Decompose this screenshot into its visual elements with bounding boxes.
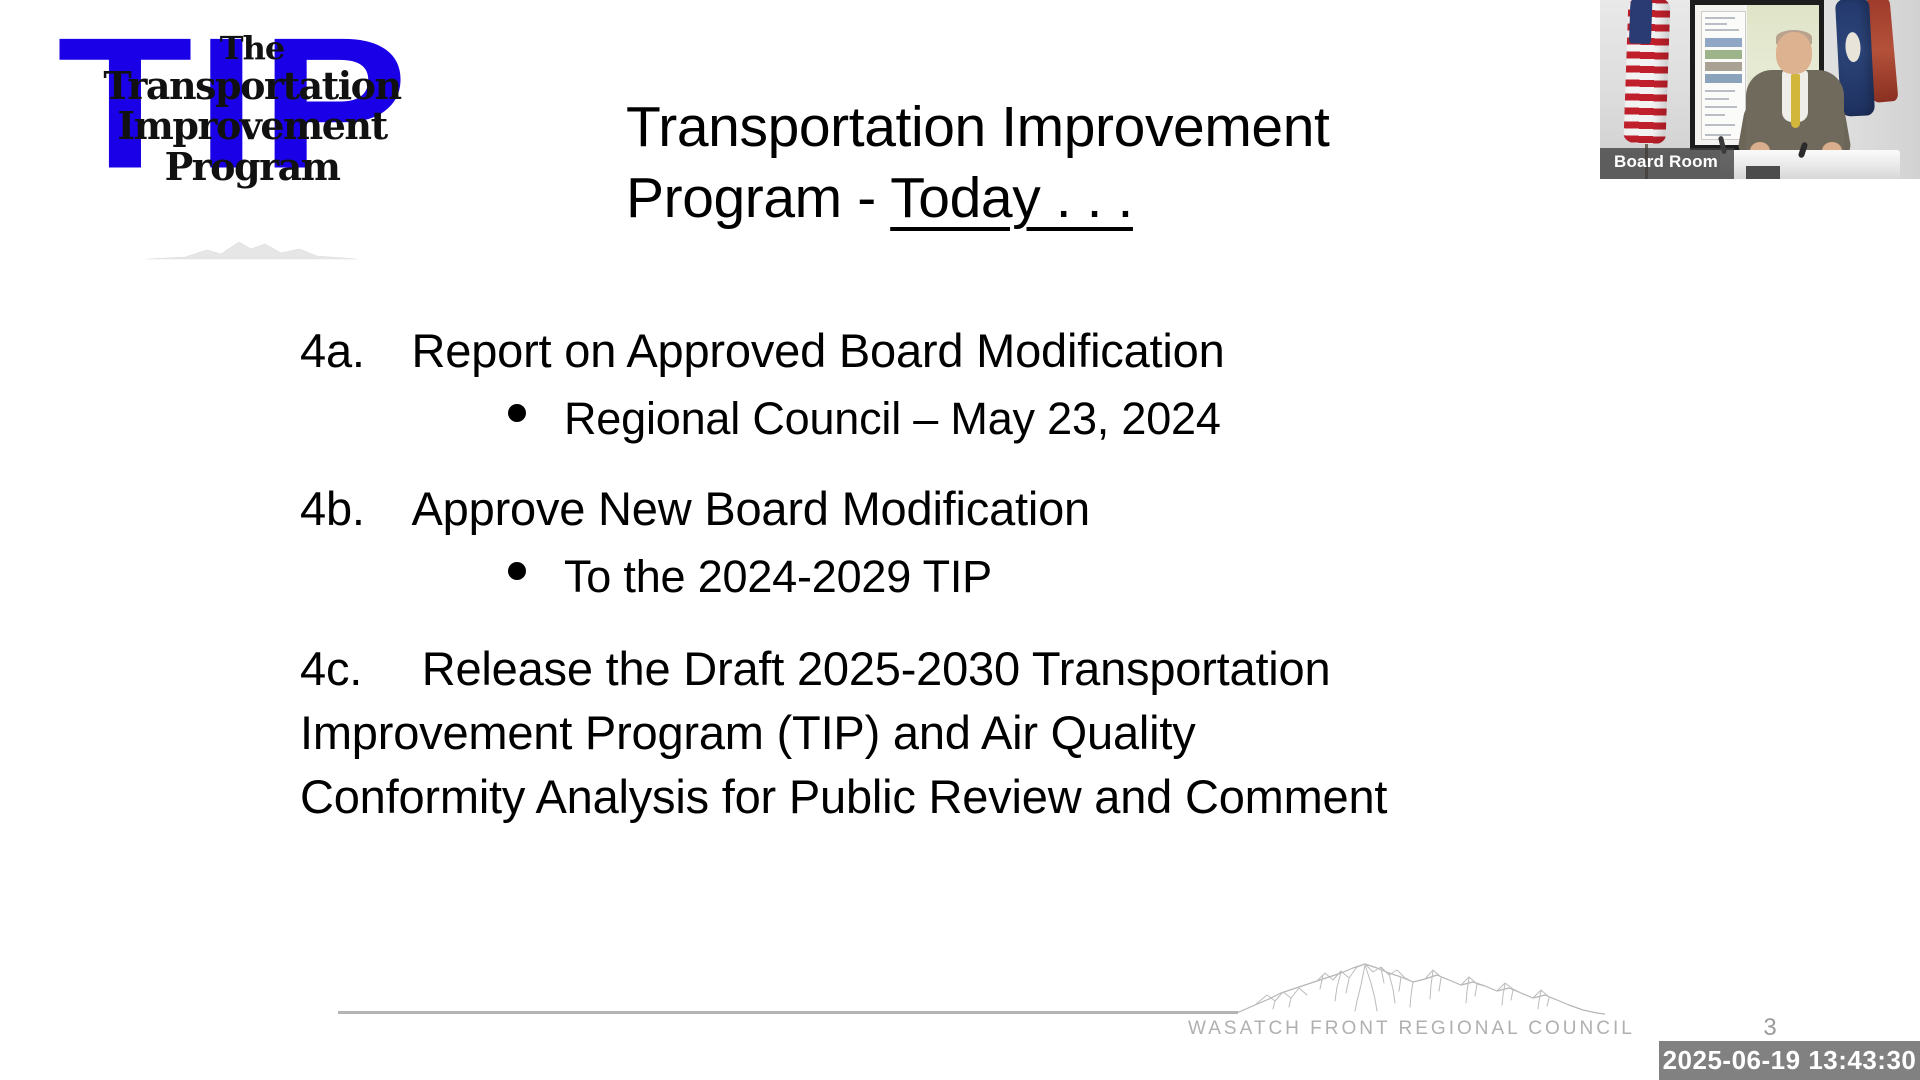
video-screen-sidebar — [1701, 11, 1746, 140]
agenda-group-4c: 4c. Release the Draft 2025-2030 Transpor… — [300, 637, 1660, 829]
bullet-icon — [508, 404, 526, 422]
video-us-flag — [1623, 0, 1670, 145]
agenda-group-4b: 4b. Approve New Board Modification To th… — [300, 478, 1660, 606]
tip-logo-line-improvement: Improvement — [102, 107, 402, 146]
title-line-2: Program - Today . . . — [626, 163, 1506, 234]
title-line-2-plain: Program - — [626, 166, 890, 230]
video-speaker-tie — [1791, 74, 1800, 128]
video-us-flag-canton — [1629, 0, 1653, 44]
wfrc-wordmark: WASATCH FRONT REGIONAL COUNCIL — [1188, 1018, 1608, 1040]
video-speaker-head — [1776, 32, 1812, 74]
tip-logo-line-program: Program — [102, 148, 402, 187]
agenda-heading: 4b. Approve New Board Modification — [300, 478, 1660, 541]
bullet-icon — [508, 562, 526, 580]
page-title: Transportation Improvement Program - Tod… — [626, 92, 1506, 233]
video-source-label: Board Room — [1600, 148, 1734, 179]
agenda-list: 4a. Report on Approved Board Modificatio… — [300, 320, 1660, 828]
tip-logo: TIP The Transportation Improvement Progr… — [42, 10, 462, 260]
logo-mountain-icon — [147, 238, 357, 260]
timestamp-overlay: 2025-06-19 13:43:30 — [1659, 1041, 1920, 1080]
wfrc-mountain-icon — [1225, 955, 1605, 1065]
video-thumbnail[interactable]: Board Room — [1600, 0, 1920, 179]
agenda-subitem: To the 2024-2029 TIP — [508, 547, 1660, 607]
agenda-heading: 4a. Report on Approved Board Modificatio… — [300, 320, 1660, 383]
agenda-subitem: Regional Council – May 23, 2024 — [508, 389, 1660, 449]
agenda-subitem-label: Regional Council – May 23, 2024 — [564, 389, 1221, 449]
tip-logo-line-transportation: Transportation — [102, 67, 402, 106]
slide-number: 3 — [1740, 1014, 1800, 1042]
video-utah-flag-emblem — [1845, 32, 1862, 63]
title-line-1: Transportation Improvement — [626, 92, 1506, 163]
title-line-2-underlined: Today . . . — [890, 166, 1133, 230]
agenda-subitem-label: To the 2024-2029 TIP — [564, 547, 992, 607]
agenda-paragraph: 4c. Release the Draft 2025-2030 Transpor… — [300, 637, 1410, 829]
agenda-group-4a: 4a. Report on Approved Board Modificatio… — [300, 320, 1660, 448]
tip-logo-line-the: The — [102, 32, 402, 65]
tip-logo-wordmark: The Transportation Improvement Program — [102, 32, 402, 187]
presentation-slide: TIP The Transportation Improvement Progr… — [0, 0, 1920, 1080]
video-podium-base — [1746, 166, 1780, 179]
footer-divider — [338, 1011, 1238, 1014]
